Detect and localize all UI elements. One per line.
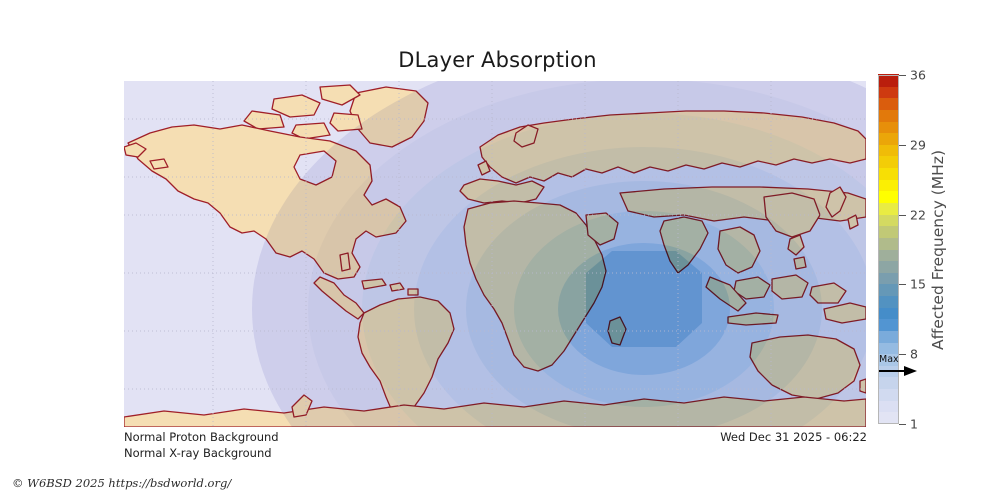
colorbar-segment — [878, 202, 899, 215]
colorbar-tick-label: 15 — [910, 277, 926, 292]
colorbar-segment — [878, 307, 899, 320]
colorbar-segment — [878, 74, 899, 87]
colorbar-segment — [878, 260, 899, 273]
colorbar-tick-label: 36 — [910, 68, 926, 83]
colorbar-segment — [878, 400, 899, 413]
page-title: DLayer Absorption — [0, 48, 995, 72]
colorbar-tick-mark — [899, 284, 906, 285]
colorbar-segment — [878, 121, 899, 134]
colorbar-segment — [878, 377, 899, 390]
footer-text: W6BSD 2025 https://bsdworld.org/ — [27, 476, 231, 490]
max-arrow-icon — [878, 365, 918, 377]
colorbar-segment — [878, 272, 899, 285]
colorbar-segment — [878, 342, 899, 355]
map-graphic — [124, 81, 866, 427]
colorbar-axis-label-text: Affected Frequency (MHz) — [929, 150, 947, 350]
colorbar-segment — [878, 388, 899, 401]
colorbar-segment — [878, 167, 899, 180]
colorbar-segment — [878, 225, 899, 238]
proton-background-status: Normal Proton Background — [124, 429, 279, 445]
copyright-icon: © — [12, 476, 24, 490]
colorbar-tick-mark — [899, 215, 906, 216]
colorbar-tick-label: 22 — [910, 207, 926, 222]
colorbar-segment — [878, 214, 899, 227]
colorbar-segment — [878, 156, 899, 169]
colorbar-tick-mark — [899, 75, 906, 76]
colorbar-segment — [878, 412, 899, 425]
colorbar-tick-label: 29 — [910, 137, 926, 152]
colorbar-segment — [878, 330, 899, 343]
timestamp: Wed Dec 31 2025 - 06:22 — [720, 430, 867, 444]
colorbar-segment — [878, 97, 899, 110]
figure-root: DLayer Absorption — [0, 0, 1000, 500]
max-marker-label: Max — [879, 354, 899, 365]
colorbar-tick-mark — [899, 145, 906, 146]
colorbar-axis-label: Affected Frequency (MHz) — [925, 75, 951, 424]
colorbar-tick-mark — [899, 424, 906, 425]
background-status: Normal Proton Background Normal X-ray Ba… — [124, 429, 279, 461]
colorbar-tick-mark — [899, 354, 906, 355]
colorbar-segment — [878, 237, 899, 250]
footer-credit: © W6BSD 2025 https://bsdworld.org/ — [12, 476, 231, 490]
colorbar-segment — [878, 295, 899, 308]
colorbar-segment — [878, 86, 899, 99]
colorbar-segment — [878, 318, 899, 331]
colorbar-segment — [878, 144, 899, 157]
colorbar-segment — [878, 132, 899, 145]
colorbar-segment — [878, 249, 899, 262]
xray-background-status: Normal X-ray Background — [124, 445, 279, 461]
world-map[interactable] — [124, 81, 866, 427]
colorbar-segment — [878, 179, 899, 192]
colorbar-tick-label: 1 — [910, 417, 918, 432]
colorbar-segment — [878, 190, 899, 203]
colorbar-segment — [878, 109, 899, 122]
map-canvas — [124, 81, 866, 427]
colorbar-max-marker: Max — [878, 356, 918, 378]
colorbar-segment — [878, 284, 899, 297]
